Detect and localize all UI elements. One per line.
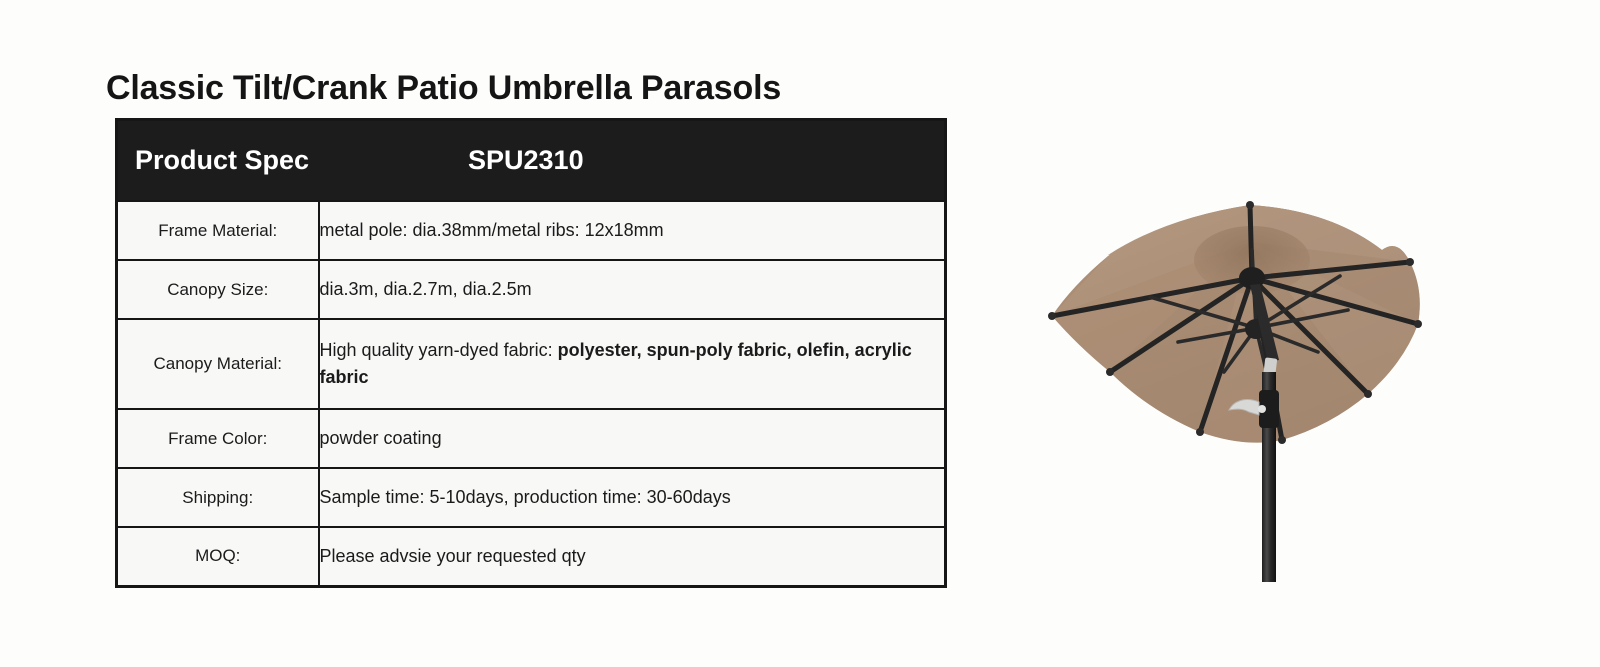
table-row: Shipping: Sample time: 5-10days, product… [117, 468, 946, 527]
row-label-canopy-material: Canopy Material: [117, 319, 319, 409]
header-label: Product Spec [118, 145, 468, 176]
row-value-canopy-material: High quality yarn-dyed fabric: polyester… [319, 319, 946, 409]
table-row: Frame Color: powder coating [117, 409, 946, 468]
product-spec-page: Classic Tilt/Crank Patio Umbrella Paraso… [0, 0, 1600, 667]
row-label-canopy-size: Canopy Size: [117, 260, 319, 319]
row-label-moq: MOQ: [117, 527, 319, 586]
page-title: Classic Tilt/Crank Patio Umbrella Paraso… [106, 66, 781, 110]
row-value-frame-color: powder coating [319, 409, 946, 468]
row-value-canopy-size: dia.3m, dia.2.7m, dia.2.5m [319, 260, 946, 319]
header-product-code: SPU2310 [468, 145, 584, 176]
table-row: Canopy Size: dia.3m, dia.2.7m, dia.2.5m [117, 260, 946, 319]
table-row: Canopy Material: High quality yarn-dyed … [117, 319, 946, 409]
canopy-material-plain-text: High quality yarn-dyed fabric: [320, 340, 558, 360]
row-label-frame-color: Frame Color: [117, 409, 319, 468]
row-value-frame-material: metal pole: dia.38mm/metal ribs: 12x18mm [319, 201, 946, 260]
table-row: MOQ: Please advsie your requested qty [117, 527, 946, 586]
table-header-cell: Product Spec SPU2310 [117, 120, 946, 202]
row-value-moq: Please advsie your requested qty [319, 527, 946, 586]
product-image-container [1000, 110, 1470, 600]
product-spec-table: Product Spec SPU2310 Frame Material: met… [115, 118, 947, 588]
table-header-row: Product Spec SPU2310 [117, 120, 946, 202]
row-label-frame-material: Frame Material: [117, 201, 319, 260]
row-label-shipping: Shipping: [117, 468, 319, 527]
table-row: Frame Material: metal pole: dia.38mm/met… [117, 201, 946, 260]
row-value-shipping: Sample time: 5-10days, production time: … [319, 468, 946, 527]
patio-umbrella-photo [1000, 110, 1470, 600]
